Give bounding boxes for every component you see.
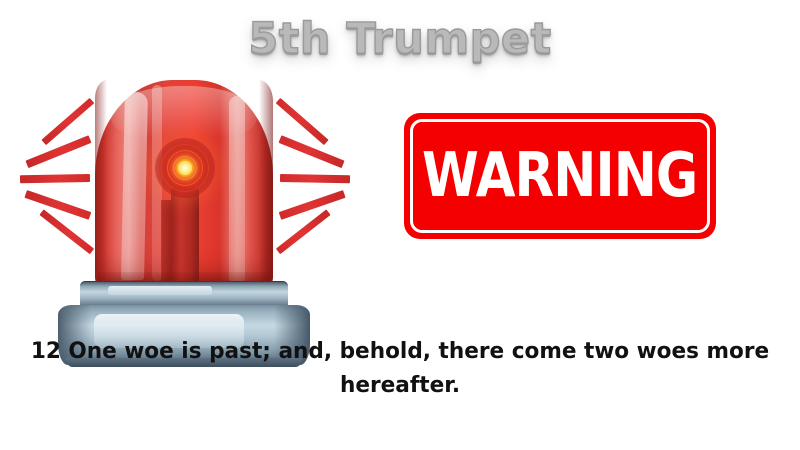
siren-ray-left-2 xyxy=(25,135,91,168)
warning-sign: WARNING xyxy=(404,113,716,239)
siren-collar-highlight xyxy=(108,286,212,295)
siren-bulb-stem xyxy=(171,188,199,284)
verse-text: 12 One woe is past; and, behold, there c… xyxy=(28,334,773,402)
slide-canvas: 5th Trumpet xyxy=(0,0,800,450)
siren-ray-right-3 xyxy=(280,174,350,183)
siren-dome-right-edge xyxy=(259,80,273,284)
siren-dome-left-edge xyxy=(95,80,107,284)
page-title: 5th Trumpet xyxy=(0,14,800,64)
siren-ray-right-2 xyxy=(279,135,345,168)
siren-dome xyxy=(95,80,273,290)
siren-dome-highlight-left xyxy=(121,92,148,280)
emergency-siren-light xyxy=(22,62,412,322)
siren-dome-highlight-right xyxy=(229,96,245,282)
siren-ray-left-4 xyxy=(24,190,91,220)
warning-sign-label: WARNING xyxy=(422,145,697,207)
siren-bulb-core xyxy=(178,161,192,175)
siren-bulb xyxy=(155,138,215,198)
warning-sign-inner-border: WARNING xyxy=(410,119,710,233)
siren-ray-right-4 xyxy=(279,190,346,220)
siren-ray-left-3 xyxy=(20,174,90,183)
